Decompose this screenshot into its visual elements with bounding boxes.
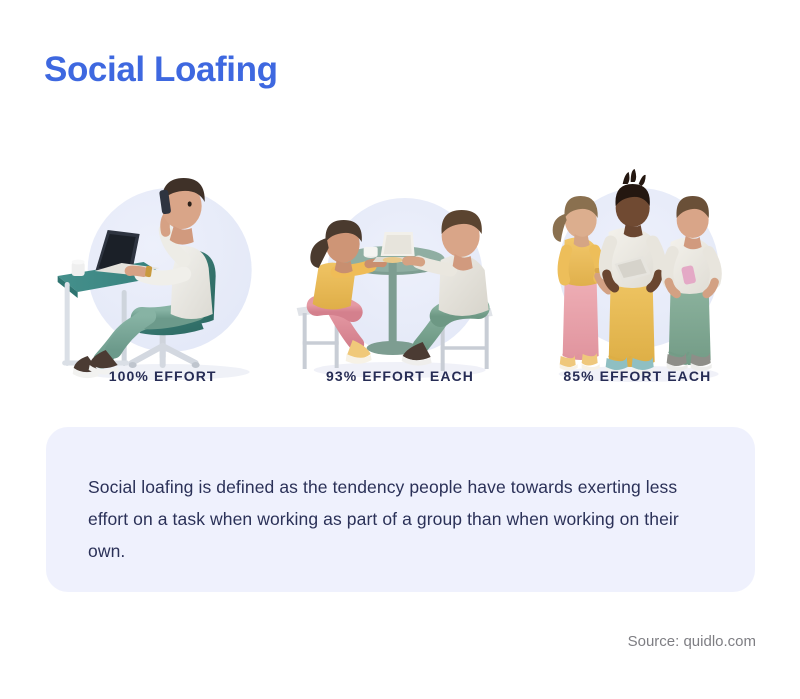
caption-93-effort: 93% EFFORT EACH bbox=[281, 368, 518, 384]
illustration-two-people bbox=[281, 158, 518, 398]
illustration-person-alone bbox=[44, 158, 281, 398]
page-title: Social Loafing bbox=[44, 48, 278, 92]
panel-three-people bbox=[519, 128, 756, 398]
caption-85-effort: 85% EFFORT EACH bbox=[519, 368, 756, 384]
caption-row: 100% EFFORT 93% EFFORT EACH 85% EFFORT E… bbox=[44, 368, 756, 384]
definition-card: Social loafing is defined as the tendenc… bbox=[46, 427, 755, 592]
ponytail bbox=[552, 214, 566, 242]
panel-one-person bbox=[44, 128, 281, 398]
caption-100-effort: 100% EFFORT bbox=[44, 368, 281, 384]
illustration-three-people bbox=[519, 158, 756, 398]
illustration-row bbox=[44, 128, 756, 398]
plate bbox=[383, 257, 403, 263]
coffee-mug bbox=[72, 260, 85, 276]
pants bbox=[562, 276, 598, 360]
hair-tufts bbox=[622, 169, 645, 186]
source-attribution: Source: quidlo.com bbox=[0, 633, 756, 650]
panel-two-people bbox=[281, 128, 518, 398]
definition-text: Social loafing is defined as the tendenc… bbox=[88, 471, 718, 567]
infographic-page: Social Loafing bbox=[0, 0, 800, 699]
